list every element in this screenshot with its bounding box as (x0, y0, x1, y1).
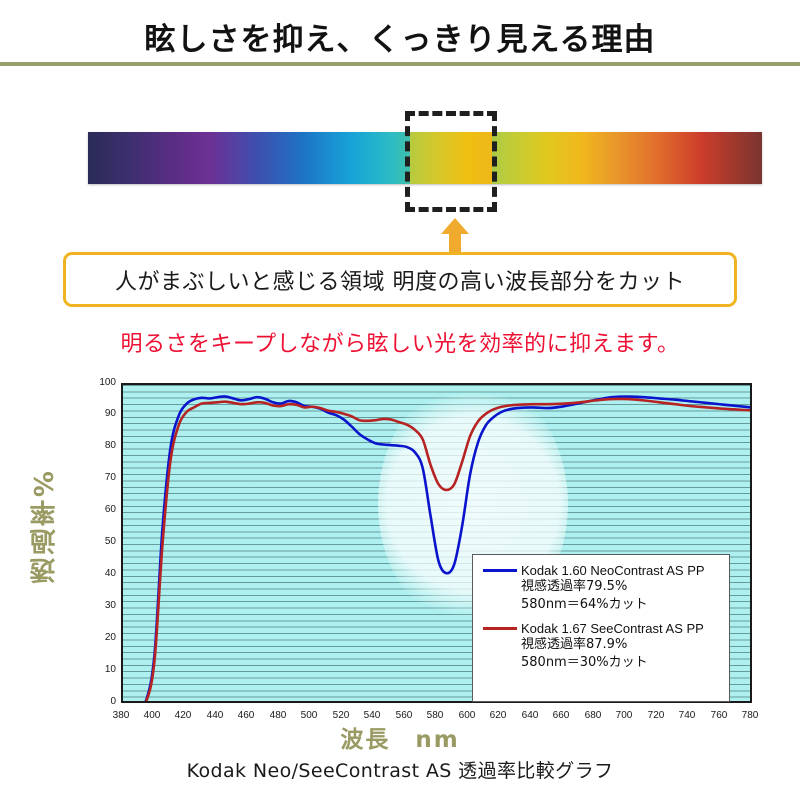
legend-line3: 580nm＝64%カット (521, 596, 719, 614)
y-axis-label: 透過率% (26, 468, 63, 584)
y-tick: 70 (80, 472, 116, 483)
page-title: 眩しさを抑え、くっきり見える理由 (0, 14, 800, 59)
glare-band-highlight-box (405, 111, 497, 212)
y-tick: 100 (80, 377, 116, 388)
legend-entry-seecontrast: Kodak 1.67 SeeContrast AS PP 視感透過率87.9% … (483, 621, 719, 671)
y-tick: 80 (80, 440, 116, 451)
legend-swatch-red (483, 627, 517, 630)
y-tick: 50 (80, 536, 116, 547)
y-tick: 60 (80, 504, 116, 515)
chart-legend: Kodak 1.60 NeoContrast AS PP 視感透過率79.5% … (472, 554, 730, 702)
emphasis-text: 明るさをキープしながら眩しい光を効率的に抑えます。 (0, 326, 800, 358)
y-tick: 30 (80, 600, 116, 611)
legend-title: Kodak 1.60 NeoContrast AS PP (521, 563, 705, 578)
legend-line3: 580nm＝30%カット (521, 654, 719, 672)
up-arrow-icon (440, 218, 470, 252)
title-divider (0, 62, 800, 66)
spectrum-section (0, 100, 800, 220)
y-tick: 0 (80, 696, 116, 707)
y-tick: 10 (80, 664, 116, 675)
legend-swatch-blue (483, 569, 517, 572)
page-root: 眩しさを抑え、くっきり見える理由 人がまぶしいと感じる領域 明度の高い波長部分を… (0, 0, 800, 800)
legend-entry-neocontrast: Kodak 1.60 NeoContrast AS PP 視感透過率79.5% … (483, 563, 719, 613)
y-tick: 90 (80, 408, 116, 419)
legend-title: Kodak 1.67 SeeContrast AS PP (521, 621, 704, 636)
callout-text: 人がまぶしいと感じる領域 明度の高い波長部分をカット (115, 264, 685, 296)
legend-line2: 視感透過率79.5% (521, 578, 719, 596)
y-tick: 20 (80, 632, 116, 643)
y-tick: 40 (80, 568, 116, 579)
legend-line2: 視感透過率87.9% (521, 636, 719, 654)
callout-box: 人がまぶしいと感じる領域 明度の高い波長部分をカット (63, 252, 737, 307)
x-axis-label: 波長 nm (0, 720, 800, 754)
chart-caption: Kodak Neo/SeeContrast AS 透過率比較グラフ (0, 756, 800, 783)
